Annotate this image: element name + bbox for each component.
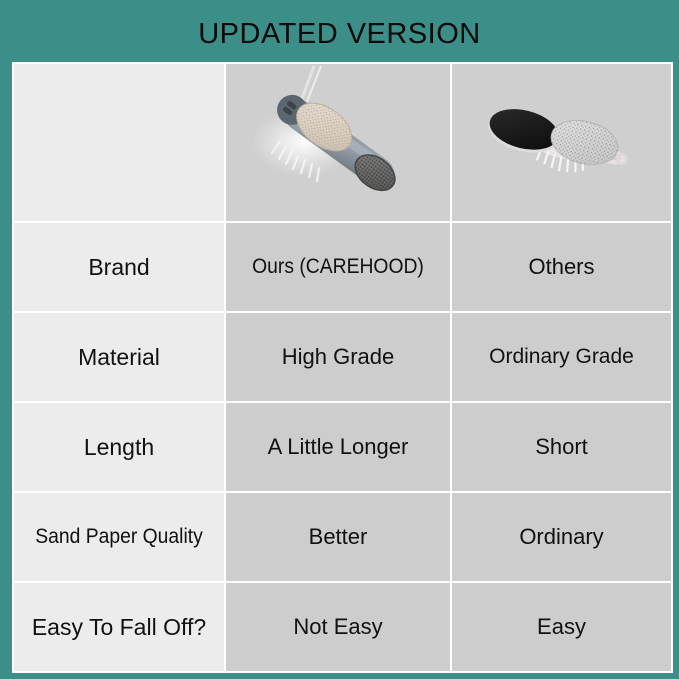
cell-ours-text: High Grade — [226, 344, 450, 369]
cell-ours: Better — [226, 493, 450, 581]
cell-others-text: Ordinary Grade — [452, 345, 671, 369]
row-label: Sand Paper Quality — [14, 493, 224, 581]
cell-ours: Not Easy — [226, 583, 450, 671]
row-label-text: Length — [14, 434, 224, 460]
comparison-table: Brand Ours (CAREHOOD) Others Material Hi… — [12, 62, 673, 673]
cell-ours-text: Not Easy — [226, 614, 450, 639]
table-row: Material High Grade Ordinary Grade — [14, 313, 671, 401]
cell-others-text: Others — [452, 254, 671, 279]
cell-others-text: Easy — [452, 614, 671, 639]
cell-ours: A Little Longer — [226, 403, 450, 491]
cell-others: Short — [452, 403, 671, 491]
image-row-blank-cell — [14, 64, 224, 221]
product-image-others — [452, 64, 671, 221]
product-image-ours — [226, 64, 450, 221]
row-label-text: Brand — [14, 254, 224, 280]
cell-ours-text: Better — [226, 524, 450, 549]
cell-ours: Ours (CAREHOOD) — [226, 223, 450, 311]
cell-others-text: Ordinary — [452, 524, 671, 549]
table-row: Brand Ours (CAREHOOD) Others — [14, 223, 671, 311]
row-label: Length — [14, 403, 224, 491]
cell-ours: High Grade — [226, 313, 450, 401]
cell-others: Easy — [452, 583, 671, 671]
foot-file-others-icon — [452, 64, 671, 221]
table-row: Length A Little Longer Short — [14, 403, 671, 491]
cell-ours-text: Ours (CAREHOOD) — [235, 255, 441, 279]
row-label-text: Sand Paper Quality — [22, 525, 215, 549]
cell-others: Ordinary — [452, 493, 671, 581]
row-label: Brand — [14, 223, 224, 311]
cell-others-text: Short — [452, 434, 671, 459]
cell-others: Ordinary Grade — [452, 313, 671, 401]
row-label-text: Easy To Fall Off? — [14, 614, 224, 640]
cell-others: Others — [452, 223, 671, 311]
comparison-poster: UPDATED VERSION — [0, 0, 679, 679]
row-label: Material — [14, 313, 224, 401]
row-label: Easy To Fall Off? — [14, 583, 224, 671]
cell-ours-text: A Little Longer — [226, 434, 450, 459]
table-row: Sand Paper Quality Better Ordinary — [14, 493, 671, 581]
page-title: UPDATED VERSION — [0, 18, 679, 51]
row-label-text: Material — [14, 344, 224, 370]
table-row: Easy To Fall Off? Not Easy Easy — [14, 583, 671, 671]
table-row-product-images — [14, 64, 671, 221]
foot-file-ours-icon — [226, 64, 450, 221]
